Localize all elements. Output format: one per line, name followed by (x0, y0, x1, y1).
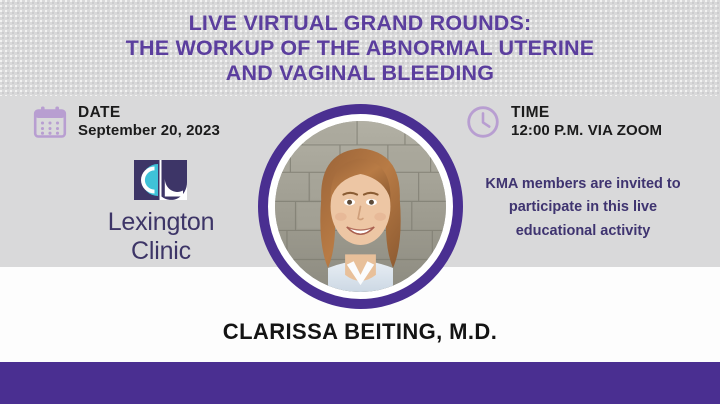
logo-wordmark-line-2: Clinic (86, 238, 236, 264)
date-text-group: DATE September 20, 2023 (78, 104, 220, 140)
lexington-clinic-logomark (128, 160, 194, 206)
presenter-portrait-image (275, 121, 446, 292)
presenter-portrait-frame (258, 104, 463, 309)
date-label: DATE (78, 104, 220, 122)
title-line-2: The Workup of the Abnormal Uterine (0, 36, 720, 61)
invite-line-3: educational activity (452, 220, 714, 243)
flyer-title: Live Virtual Grand Rounds: The Workup of… (0, 11, 720, 86)
lexington-clinic-logo: Lexington Clinic (86, 160, 236, 265)
presenter-name: CLARISSA BEITING, M.D. (0, 319, 720, 345)
title-line-3: and Vaginal Bleeding (0, 61, 720, 86)
date-value: September 20, 2023 (78, 122, 220, 140)
webinar-flyer-slide: Live Virtual Grand Rounds: The Workup of… (0, 0, 720, 404)
presenter-portrait (275, 121, 446, 292)
date-info-block: DATE September 20, 2023 (33, 104, 220, 140)
calendar-icon (33, 105, 67, 139)
time-info-block: TIME 12:00 P.M. VIA ZOOM (466, 104, 662, 140)
invite-copy: KMA members are invited to participate i… (452, 173, 714, 243)
time-text-group: TIME 12:00 P.M. VIA ZOOM (511, 104, 662, 140)
logo-wordmark-line-1: Lexington (86, 209, 236, 235)
time-label: TIME (511, 104, 662, 122)
invite-line-2: participate in this live (452, 196, 714, 219)
invite-line-1: KMA members are invited to (452, 173, 714, 196)
clock-icon (466, 105, 500, 139)
bottom-purple-bar (0, 362, 720, 404)
title-line-1: Live Virtual Grand Rounds: (0, 11, 720, 36)
time-value: 12:00 P.M. VIA ZOOM (511, 122, 662, 140)
